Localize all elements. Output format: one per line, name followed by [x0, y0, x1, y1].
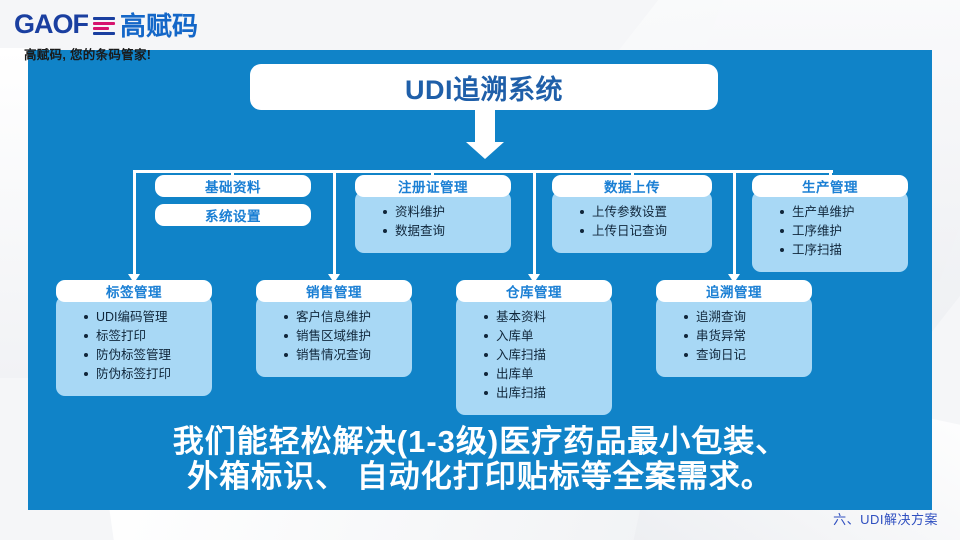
module-registration-cert-body: 资料维护 数据查询	[355, 191, 511, 253]
module-warehouse-body: 基本资料 入库单 入库扫描 出库单 出库扫描	[456, 296, 612, 415]
list-item[interactable]: 出库单	[484, 365, 612, 384]
module-system-settings[interactable]: 系统设置	[155, 204, 311, 226]
list-item[interactable]: 查询日记	[684, 346, 812, 365]
module-label-header[interactable]: 标签管理	[56, 280, 212, 302]
list-item[interactable]: 销售情况查询	[284, 346, 412, 365]
module-data-upload-list: 上传参数设置 上传日记查询	[552, 203, 712, 241]
list-item[interactable]: 数据查询	[383, 222, 511, 241]
module-basic-data[interactable]: 基础资料 系统设置	[155, 175, 311, 226]
list-item[interactable]: 生产单维护	[780, 203, 908, 222]
logo-latin-text: GAOF	[14, 9, 88, 40]
list-item[interactable]: 防伪标签管理	[84, 346, 212, 365]
module-label-title: 标签管理	[106, 281, 162, 301]
module-label-list: UDI编码管理 标签打印 防伪标签管理 防伪标签打印	[56, 308, 212, 384]
module-production[interactable]: 生产管理 生产单维护 工序维护 工序扫描	[752, 175, 908, 272]
title-down-arrow-icon	[466, 110, 504, 159]
module-traceability-body: 追溯查询 串货异常 查询日记	[656, 296, 812, 377]
module-registration-cert-title: 注册证管理	[398, 176, 468, 196]
caption-line-2: 外箱标识、 自动化打印贴标等全案需求。	[28, 459, 932, 494]
module-traceability-header[interactable]: 追溯管理	[656, 280, 812, 302]
background-shape-left-strip	[0, 48, 30, 378]
module-registration-cert-list: 资料维护 数据查询	[355, 203, 511, 241]
list-item[interactable]: 出库扫描	[484, 384, 612, 403]
module-sales-title: 销售管理	[306, 281, 362, 301]
module-sales[interactable]: 销售管理 客户信息维护 销售区域维护 销售情况查询	[256, 280, 412, 377]
module-basic-data-header[interactable]: 基础资料	[155, 175, 311, 197]
list-item[interactable]: UDI编码管理	[84, 308, 212, 327]
module-production-header[interactable]: 生产管理	[752, 175, 908, 197]
module-warehouse-header[interactable]: 仓库管理	[456, 280, 612, 302]
list-item[interactable]: 防伪标签打印	[84, 365, 212, 384]
module-registration-cert-header[interactable]: 注册证管理	[355, 175, 511, 197]
diagram-title-box: UDI追溯系统	[250, 64, 718, 110]
module-data-upload[interactable]: 数据上传 上传参数设置 上传日记查询	[552, 175, 712, 253]
module-sales-header[interactable]: 销售管理	[256, 280, 412, 302]
module-production-body: 生产单维护 工序维护 工序扫描	[752, 191, 908, 272]
list-item[interactable]: 追溯查询	[684, 308, 812, 327]
logo-row: GAOF 高赋码	[14, 6, 198, 43]
connector-drop-row3-3	[533, 170, 536, 275]
list-item[interactable]: 资料维护	[383, 203, 511, 222]
list-item[interactable]: 入库单	[484, 327, 612, 346]
list-item[interactable]: 串货异常	[684, 327, 812, 346]
list-item[interactable]: 标签打印	[84, 327, 212, 346]
module-sales-list: 客户信息维护 销售区域维护 销售情况查询	[256, 308, 412, 365]
module-warehouse-list: 基本资料 入库单 入库扫描 出库单 出库扫描	[456, 308, 612, 403]
module-registration-cert[interactable]: 注册证管理 资料维护 数据查询	[355, 175, 511, 253]
module-data-upload-title: 数据上传	[604, 176, 660, 196]
module-data-upload-body: 上传参数设置 上传日记查询	[552, 191, 712, 253]
brand-logo: GAOF 高赋码 高赋码, 您的条码管家!	[14, 6, 198, 63]
module-traceability-list: 追溯查询 串货异常 查询日记	[656, 308, 812, 365]
module-production-title: 生产管理	[802, 176, 858, 196]
module-system-settings-title: 系统设置	[205, 205, 261, 225]
connector-drop-row3-1	[133, 170, 136, 275]
module-sales-body: 客户信息维护 销售区域维护 销售情况查询	[256, 296, 412, 377]
module-warehouse[interactable]: 仓库管理 基本资料 入库单 入库扫描 出库单 出库扫描	[456, 280, 612, 415]
list-item[interactable]: 工序维护	[780, 222, 908, 241]
connector-bus-line	[133, 170, 833, 173]
list-item[interactable]: 基本资料	[484, 308, 612, 327]
slide-caption: 我们能轻松解决(1-3级)医疗药品最小包装、 外箱标识、 自动化打印贴标等全案需…	[28, 424, 932, 494]
list-item[interactable]: 销售区域维护	[284, 327, 412, 346]
slide-footer-label: 六、UDI解决方案	[833, 509, 938, 528]
list-item[interactable]: 工序扫描	[780, 241, 908, 260]
connector-drop-row3-2	[333, 170, 336, 275]
module-basic-data-title: 基础资料	[205, 176, 261, 196]
module-traceability-title: 追溯管理	[706, 281, 762, 301]
connector-drop-row3-4	[733, 170, 736, 275]
module-label-body: UDI编码管理 标签打印 防伪标签管理 防伪标签打印	[56, 296, 212, 396]
list-item[interactable]: 上传日记查询	[580, 222, 712, 241]
page-title: UDI追溯系统	[405, 68, 563, 107]
caption-line-1: 我们能轻松解决(1-3级)医疗药品最小包装、	[28, 424, 932, 459]
barcode-icon	[93, 14, 115, 35]
list-item[interactable]: 上传参数设置	[580, 203, 712, 222]
list-item[interactable]: 入库扫描	[484, 346, 612, 365]
logo-chinese-text: 高赋码	[120, 6, 198, 43]
module-data-upload-header[interactable]: 数据上传	[552, 175, 712, 197]
module-label[interactable]: 标签管理 UDI编码管理 标签打印 防伪标签管理 防伪标签打印	[56, 280, 212, 396]
module-production-list: 生产单维护 工序维护 工序扫描	[752, 203, 908, 260]
brand-tagline: 高赋码, 您的条码管家!	[24, 44, 198, 63]
module-traceability[interactable]: 追溯管理 追溯查询 串货异常 查询日记	[656, 280, 812, 377]
module-warehouse-title: 仓库管理	[506, 281, 562, 301]
list-item[interactable]: 客户信息维护	[284, 308, 412, 327]
